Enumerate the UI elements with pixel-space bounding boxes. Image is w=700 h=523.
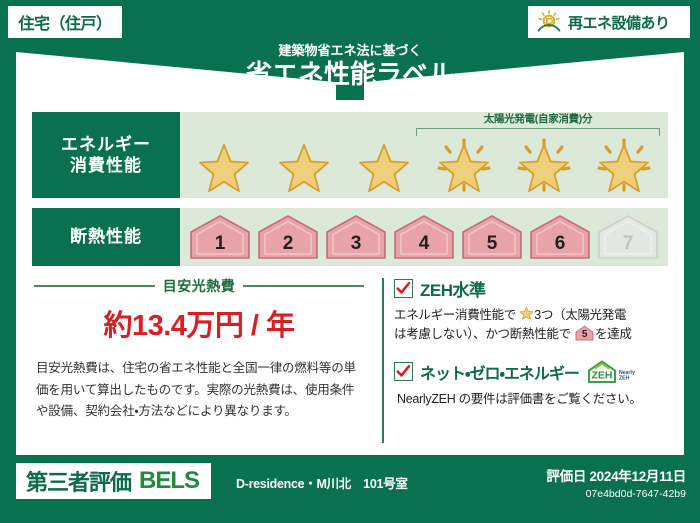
insulation-level-scale: 1234567 <box>186 212 662 262</box>
renewable-equipment-badge: 再エネ設備あり <box>528 6 690 38</box>
inline-house-badge: 5 <box>575 325 594 341</box>
column-divider <box>382 278 384 443</box>
check-icon <box>396 281 411 296</box>
building-name: D-residence・M川北 101号室 <box>236 473 408 492</box>
insulation-performance-body: 1234567 <box>180 208 668 266</box>
third-party-eval-label: 第三者評価 <box>26 465 131 497</box>
insulation-level-number: 2 <box>283 233 294 260</box>
energy-star <box>353 136 415 194</box>
housing-type-label: 住宅（住戸） <box>18 10 111 34</box>
energy-star <box>273 136 335 194</box>
energy-star-rating <box>184 134 664 195</box>
energy-title-line2: 消費性能 <box>70 155 142 176</box>
solar-portion-note: 太陽光発電(自家消費)分 <box>416 111 660 126</box>
net-zero-energy-checkbox <box>394 362 413 381</box>
insulation-level-2: 2 <box>257 214 319 260</box>
net-zero-energy-heading: ネット・ゼロ・エネルギー ZEH Nearly ZEH <box>394 359 674 385</box>
svg-text:ZEH: ZEH <box>591 369 612 381</box>
bels-logo-text: BELS <box>139 467 199 495</box>
zeh-standard-heading: ZEH水準 <box>394 276 674 301</box>
cost-rule-right <box>243 285 364 287</box>
label-footer: 第三者評価 BELS D-residence・M川北 101号室 評価日 202… <box>0 455 700 523</box>
energy-star-solar <box>513 136 575 194</box>
housing-type-badge: 住宅（住戸） <box>8 6 122 38</box>
insulation-level-number: 6 <box>555 233 566 260</box>
energy-performance-row: エネルギー 消費性能 太陽光発電(自家消費)分 <box>32 112 668 198</box>
evaluation-id: 07e4bd0d-7647-42b9 <box>546 488 686 500</box>
insulation-level-number: 5 <box>487 233 498 260</box>
evaluation-date: 評価日 2024年12月11日 <box>546 465 686 485</box>
insulation-level-4: 4 <box>393 214 455 260</box>
label-body-panel: エネルギー 消費性能 太陽光発電(自家消費)分 断熱性能 1234567 目安光… <box>16 100 684 455</box>
energy-performance-title: エネルギー 消費性能 <box>32 112 180 198</box>
inline-house-number: 5 <box>575 325 594 341</box>
insulation-level-5: 5 <box>461 214 523 260</box>
zeh-standard-checkbox <box>394 279 413 298</box>
zeh-logo-icon: ZEH Nearly ZEH <box>586 359 642 385</box>
insulation-level-7: 7 <box>597 214 659 260</box>
insulation-performance-row: 断熱性能 1234567 <box>32 208 668 266</box>
zeh-desc-part3: は考慮しない）、かつ断熱性能で <box>394 327 571 341</box>
insulation-level-3: 3 <box>325 214 387 260</box>
energy-star <box>193 136 255 194</box>
zeh-standard-title: ZEH水準 <box>420 276 486 301</box>
insulation-level-number: 1 <box>215 233 226 260</box>
inline-star-icon <box>519 306 534 321</box>
cost-rule-left <box>34 285 155 287</box>
zeh-desc-part1: エネルギー消費性能で <box>394 308 516 322</box>
zeh-desc-part4: を達成 <box>595 327 632 341</box>
evaluation-info: 評価日 2024年12月11日 07e4bd0d-7647-42b9 <box>546 465 686 500</box>
energy-performance-body: 太陽光発電(自家消費)分 <box>180 112 668 198</box>
energy-performance-label: 住宅（住戸） 再エネ設備あり 建築物省エネ法に基づく 省エネ性能ラベル <box>0 0 700 523</box>
utility-cost-heading: 目安光熱費 <box>34 276 364 296</box>
zeh-desc-part2: 3つ（太陽光発電 <box>534 308 626 322</box>
insulation-level-1: 1 <box>189 214 251 260</box>
label-subtitle: 建築物省エネ法に基づく <box>0 40 700 59</box>
net-zero-energy-title: ネット・ゼロ・エネルギー <box>420 360 579 384</box>
energy-star-solar <box>593 136 655 194</box>
insulation-level-number: 4 <box>419 233 430 260</box>
energy-title-line1: エネルギー <box>61 134 151 155</box>
utility-cost-label: 目安光熱費 <box>163 276 236 296</box>
zeh-column: ZEH水準 エネルギー消費性能で 3つ（太陽光発電 は考慮しない）、かつ断熱性能… <box>394 276 674 409</box>
svg-text:ZEH: ZEH <box>619 375 630 381</box>
renewable-equipment-label: 再エネ設備あり <box>568 12 670 33</box>
insulation-title-label: 断熱性能 <box>70 226 142 247</box>
energy-star-solar <box>433 136 495 194</box>
insulation-performance-title: 断熱性能 <box>32 208 180 266</box>
insulation-level-number: 3 <box>351 233 362 260</box>
bels-plate: 第三者評価 BELS <box>16 463 211 499</box>
check-icon <box>396 364 411 379</box>
utility-cost-block: 目安光熱費 約13.4万円 / 年 <box>34 276 364 344</box>
net-zero-energy-description: NearlyZEH の要件は評価書をご覧ください。 <box>394 390 674 409</box>
utility-cost-value: 約13.4万円 / 年 <box>34 302 364 344</box>
utility-cost-description: 目安光熱費は、住宅の省エネ性能と全国一律の燃料等の単価を用いて算出したものです。… <box>36 358 366 423</box>
sun-icon <box>536 10 562 34</box>
insulation-level-6: 6 <box>529 214 591 260</box>
insulation-level-number: 7 <box>623 233 634 260</box>
zeh-standard-description: エネルギー消費性能で 3つ（太陽光発電 は考慮しない）、かつ断熱性能で 5 を達… <box>394 306 674 345</box>
